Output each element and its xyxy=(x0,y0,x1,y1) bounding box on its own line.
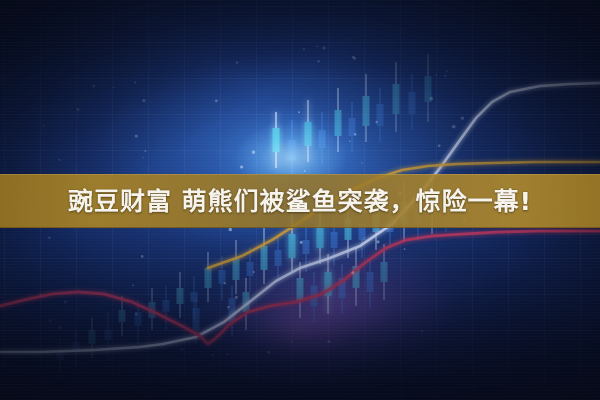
banner-image: 豌豆财富 萌熊们被鲨鱼突袭，惊险一幕! xyxy=(0,0,600,400)
spark-particle xyxy=(39,293,41,295)
candle xyxy=(273,112,280,168)
spark-particle xyxy=(132,284,134,286)
spark-particle xyxy=(215,99,218,102)
spark-particle xyxy=(353,57,356,60)
spark-particle xyxy=(300,241,303,244)
candle xyxy=(229,286,236,336)
spark-particle xyxy=(436,74,438,76)
candle xyxy=(247,248,254,292)
spark-particle xyxy=(224,282,226,284)
spark-particle xyxy=(134,81,136,83)
spark-particle xyxy=(377,240,380,243)
spark-particle xyxy=(375,121,377,123)
candle xyxy=(377,88,384,142)
candle xyxy=(57,338,64,372)
candle xyxy=(305,100,312,162)
candle xyxy=(275,236,282,282)
candle xyxy=(353,248,360,306)
title-banner: 豌豆财富 萌熊们被鲨鱼突袭，惊险一幕! xyxy=(0,174,600,228)
spark-particle xyxy=(461,117,464,120)
spark-particle xyxy=(229,228,232,231)
spark-particle xyxy=(354,133,356,135)
candle xyxy=(349,102,356,152)
spark-particle xyxy=(58,159,60,161)
spark-particle xyxy=(108,359,110,361)
spark-particle xyxy=(64,301,67,304)
spark-particle xyxy=(361,163,362,164)
spark-particle xyxy=(351,271,354,274)
spark-particle xyxy=(45,73,47,75)
spark-particle xyxy=(144,150,146,152)
spark-particle xyxy=(438,144,441,147)
spark-particle xyxy=(181,348,183,350)
candle xyxy=(89,318,96,358)
spark-particle xyxy=(113,87,115,89)
spark-particle xyxy=(267,351,270,354)
spark-particle xyxy=(135,135,138,138)
candle xyxy=(233,240,240,294)
candle xyxy=(393,62,400,132)
spark-particle xyxy=(304,170,306,172)
spark-particle xyxy=(59,325,63,329)
spark-particle xyxy=(298,111,300,113)
spark-particle xyxy=(42,125,44,127)
spark-particle xyxy=(142,99,145,102)
candle xyxy=(367,258,374,308)
spark-particle xyxy=(226,353,228,355)
candle xyxy=(335,88,342,152)
spark-particle xyxy=(49,319,52,322)
spark-particle xyxy=(316,45,318,47)
spark-particle xyxy=(135,313,138,316)
spark-particle xyxy=(291,341,293,343)
spark-particle xyxy=(349,141,350,142)
candle xyxy=(177,272,184,318)
banner-title-text: 豌豆财富 萌熊们被鲨鱼突袭，惊险一幕! xyxy=(68,189,532,214)
candle xyxy=(163,286,170,330)
spark-particle xyxy=(421,330,423,332)
spark-particle xyxy=(227,306,230,309)
candle xyxy=(425,54,432,122)
spark-particle xyxy=(317,60,319,62)
spark-particle xyxy=(429,97,433,101)
candle xyxy=(319,112,326,164)
spark-particle xyxy=(303,48,305,50)
spark-particle xyxy=(327,340,330,343)
candle xyxy=(205,252,212,302)
spark-particle xyxy=(235,296,238,299)
candle xyxy=(409,74,416,130)
spark-particle xyxy=(141,255,144,258)
spark-particle xyxy=(92,85,95,88)
spark-particle xyxy=(253,271,255,273)
spark-particle xyxy=(143,157,144,158)
spark-particle xyxy=(77,108,80,111)
spark-particle xyxy=(444,75,446,77)
spark-particle xyxy=(252,151,255,154)
spark-particle xyxy=(309,261,310,262)
candle xyxy=(289,120,296,176)
spark-particle xyxy=(240,165,243,168)
spark-particle xyxy=(446,70,448,72)
candle xyxy=(363,74,370,142)
candle xyxy=(261,228,268,284)
candle xyxy=(73,330,80,366)
candle xyxy=(325,254,332,314)
spark-particle xyxy=(452,125,456,129)
candle xyxy=(119,296,126,336)
spark-particle xyxy=(236,62,238,64)
candle xyxy=(339,264,346,314)
spark-particle xyxy=(212,354,214,356)
spark-particle xyxy=(322,47,325,50)
spark-particle xyxy=(48,237,50,239)
spark-particle xyxy=(404,248,406,250)
